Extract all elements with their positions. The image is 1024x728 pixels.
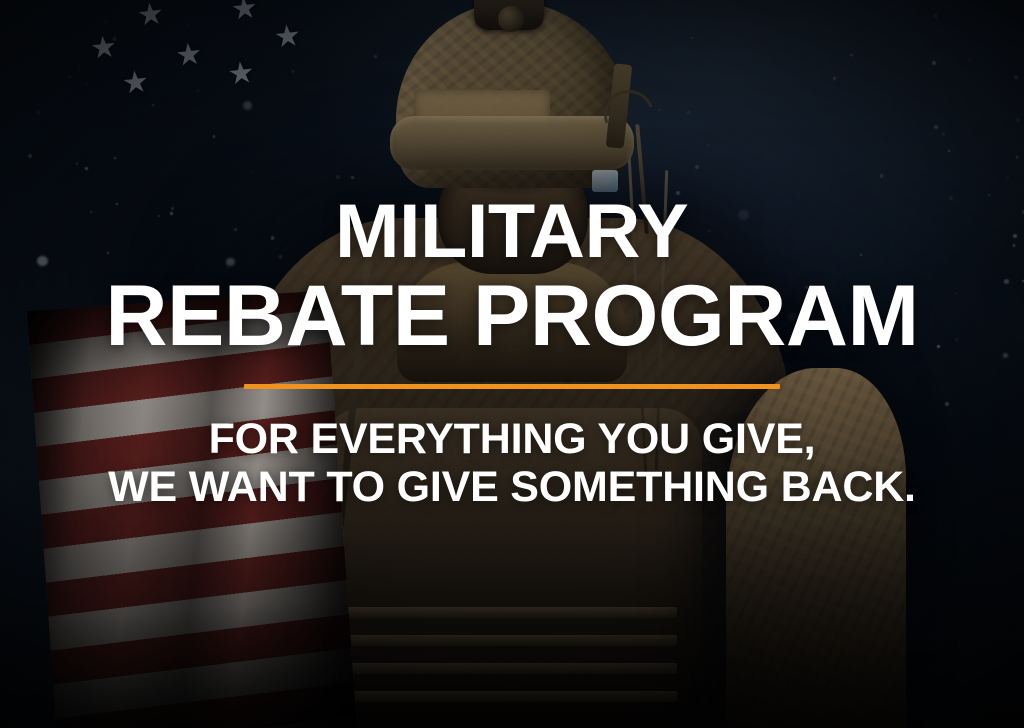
page-title: MILITARY REBATE PROGRAM [105,196,918,358]
subheading-line-2: WE WANT TO GIVE SOMETHING BACK. [108,463,916,511]
orange-divider [244,384,780,389]
subheading: FOR EVERYTHING YOU GIVE, WE WANT TO GIVE… [108,415,916,511]
subheading-line-1: FOR EVERYTHING YOU GIVE, [108,415,916,463]
military-rebate-banner: ★★★★★★★★ MILITARY REBATE PROGRAM FOR EVE… [0,0,1024,728]
headline-line-1: MILITARY [97,196,926,269]
headline-line-2: REBATE PROGRAM [105,275,918,358]
banner-content: MILITARY REBATE PROGRAM FOR EVERYTHING Y… [0,0,1024,728]
